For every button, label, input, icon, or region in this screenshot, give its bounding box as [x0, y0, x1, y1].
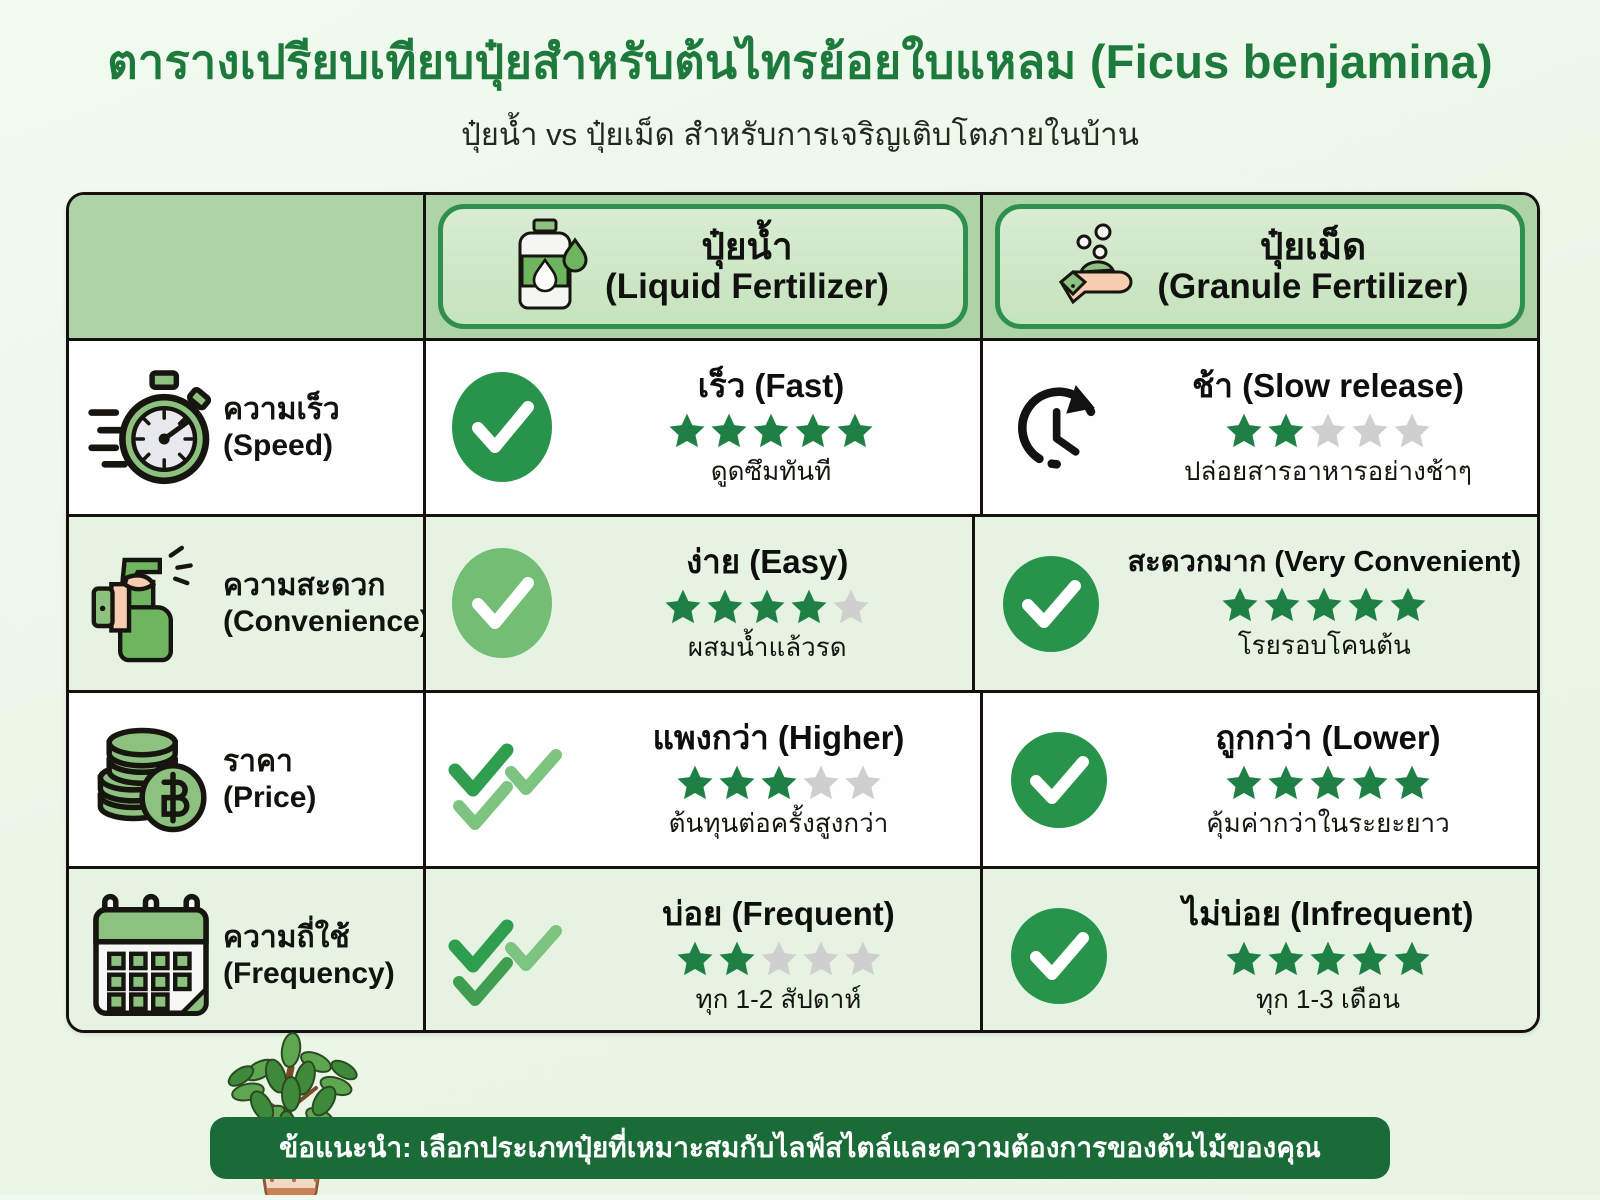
- cell-convenience-granule: สะดวกมาก (Very Convenient) โรยรอบโคนต้น: [972, 517, 1537, 690]
- coins-baht-icon: [85, 714, 217, 846]
- comparison-table: ปุ๋ยน้ำ (Liquid Fertilizer): [66, 192, 1540, 1033]
- row-label-convenience: ความสะดวก (Convenience): [69, 517, 426, 690]
- star-rating: [674, 939, 884, 979]
- cell-price-liquid: แพงกว่า (Higher) ต้นทุนต่อครั้งสูงกว่า: [426, 693, 980, 866]
- cell-headline: เร็ว (Fast): [698, 367, 845, 405]
- cell-note: โรยรอบโคนต้น: [1238, 630, 1411, 661]
- row-label-frequency-en: (Frequency): [223, 956, 395, 991]
- check-circle-light-icon: [442, 546, 562, 661]
- cell-note: คุ้มค่ากว่าในระยะยาว: [1206, 808, 1450, 839]
- check-circle-dark-icon: [442, 370, 562, 485]
- page-title: ตารางเปรียบเทียบปุ๋ยสำหรับต้นไทรย้อยใบแห…: [0, 36, 1600, 89]
- table-row: ราคา (Price) แพงกว่า (Higher) ต้นทุนต่อค…: [69, 693, 1537, 869]
- star-rating: [662, 587, 872, 627]
- star-rating: [674, 763, 884, 803]
- clock-slow-icon: [999, 373, 1119, 483]
- header-col-liquid: ปุ๋ยน้ำ (Liquid Fertilizer): [426, 195, 980, 338]
- check-circle-dark-icon: [999, 730, 1119, 830]
- star-rating: [1223, 411, 1433, 451]
- row-label-price-en: (Price): [223, 780, 316, 815]
- cell-speed-liquid: เร็ว (Fast) ดูดซึมทันที: [426, 341, 980, 514]
- header-col-liquid-en: (Liquid Fertilizer): [605, 269, 889, 306]
- triple-check-icon: [442, 722, 577, 837]
- stopwatch-icon: [85, 362, 217, 494]
- cell-note: ปล่อยสารอาหารอย่างช้าๆ: [1184, 456, 1472, 487]
- row-label-frequency-text: ความถี่ใช้ (Frequency): [223, 920, 395, 991]
- header-col-granule-en: (Granule Fertilizer): [1157, 269, 1468, 306]
- row-label-convenience-en: (Convenience): [223, 604, 430, 639]
- header-corner-cell: [69, 195, 426, 338]
- cell-convenience-liquid: ง่าย (Easy) ผสมน้ำแล้วรด: [426, 517, 972, 690]
- row-label-speed: ความเร็ว (Speed): [69, 341, 426, 514]
- header-col-liquid-th: ปุ๋ยน้ำ: [605, 228, 889, 267]
- cell-note: ดูดซึมทันที: [711, 456, 832, 487]
- star-rating: [1219, 585, 1429, 625]
- table-row: ความสะดวก (Convenience) ง่าย (Easy) ผสมน…: [69, 517, 1537, 693]
- footer-tip-bar: ข้อแนะนำ: เลือกประเภทปุ๋ยที่เหมาะสมกับไล…: [210, 1117, 1390, 1179]
- hand-granules-icon: [1051, 220, 1143, 313]
- row-label-frequency: ความถี่ใช้ (Frequency): [69, 869, 426, 1033]
- check-circle-dark-icon: [999, 906, 1119, 1006]
- cell-speed-granule: ช้า (Slow release) ปล่อยสารอาหารอย่างช้า…: [980, 341, 1537, 514]
- star-rating: [1223, 763, 1433, 803]
- row-label-price: ราคา (Price): [69, 693, 426, 866]
- table-row: ความเร็ว (Speed) เร็ว (Fast) ดูดซึมทันที: [69, 341, 1537, 517]
- table-header-row: ปุ๋ยน้ำ (Liquid Fertilizer): [69, 195, 1537, 341]
- spray-bottle-icon: [85, 538, 217, 670]
- infographic-page: ตารางเปรียบเทียบปุ๋ยสำหรับต้นไทรย้อยใบแห…: [0, 0, 1600, 1195]
- row-label-frequency-th: ความถี่ใช้: [223, 921, 350, 954]
- page-subtitle: ปุ๋ยน้ำ vs ปุ๋ยเม็ด สำหรับการเจริญเติบโต…: [0, 116, 1600, 153]
- row-label-speed-en: (Speed): [223, 428, 340, 463]
- star-rating: [666, 411, 876, 451]
- cell-note: ต้นทุนต่อครั้งสูงกว่า: [669, 808, 889, 839]
- cell-headline: สะดวกมาก (Very Convenient): [1127, 546, 1521, 579]
- cell-note: ทุก 1-3 เดือน: [1256, 984, 1400, 1015]
- cell-frequency-liquid: บ่อย (Frequent) ทุก 1-2 สัปดาห์: [426, 869, 980, 1033]
- row-label-speed-th: ความเร็ว: [223, 393, 340, 426]
- star-rating: [1223, 939, 1433, 979]
- header-col-granule-th: ปุ๋ยเม็ด: [1157, 228, 1468, 267]
- row-label-convenience-text: ความสะดวก (Convenience): [223, 568, 430, 639]
- row-label-convenience-th: ความสะดวก: [223, 569, 385, 602]
- cell-note: ทุก 1-2 สัปดาห์: [696, 984, 862, 1015]
- table-row: ความถี่ใช้ (Frequency) บ่อย (Frequent) ท…: [69, 869, 1537, 1033]
- cell-note: ผสมน้ำแล้วรด: [688, 632, 847, 663]
- cell-frequency-granule: ไม่บ่อย (Infrequent) ทุก 1-3 เดือน: [980, 869, 1537, 1033]
- calendar-icon: [85, 890, 217, 1022]
- row-label-price-th: ราคา: [223, 745, 293, 778]
- row-label-speed-text: ความเร็ว (Speed): [223, 392, 340, 463]
- cell-headline: แพงกว่า (Higher): [653, 719, 905, 757]
- cell-headline: ไม่บ่อย (Infrequent): [1183, 895, 1474, 933]
- cell-headline: ง่าย (Easy): [686, 543, 848, 581]
- header-col-granule: ปุ๋ยเม็ด (Granule Fertilizer): [980, 195, 1537, 338]
- check-circle-dark-icon: [991, 554, 1111, 654]
- row-label-price-text: ราคา (Price): [223, 744, 316, 815]
- cell-headline: ช้า (Slow release): [1192, 367, 1464, 405]
- triple-check-icon: [442, 898, 577, 1013]
- fertilizer-bottle-icon: [517, 216, 591, 317]
- cell-price-granule: ถูกกว่า (Lower) คุ้มค่ากว่าในระยะยาว: [980, 693, 1537, 866]
- cell-headline: บ่อย (Frequent): [662, 895, 894, 933]
- footer-tip-text: ข้อแนะนำ: เลือกประเภทปุ๋ยที่เหมาะสมกับไล…: [279, 1134, 1321, 1162]
- cell-headline: ถูกกว่า (Lower): [1215, 719, 1440, 757]
